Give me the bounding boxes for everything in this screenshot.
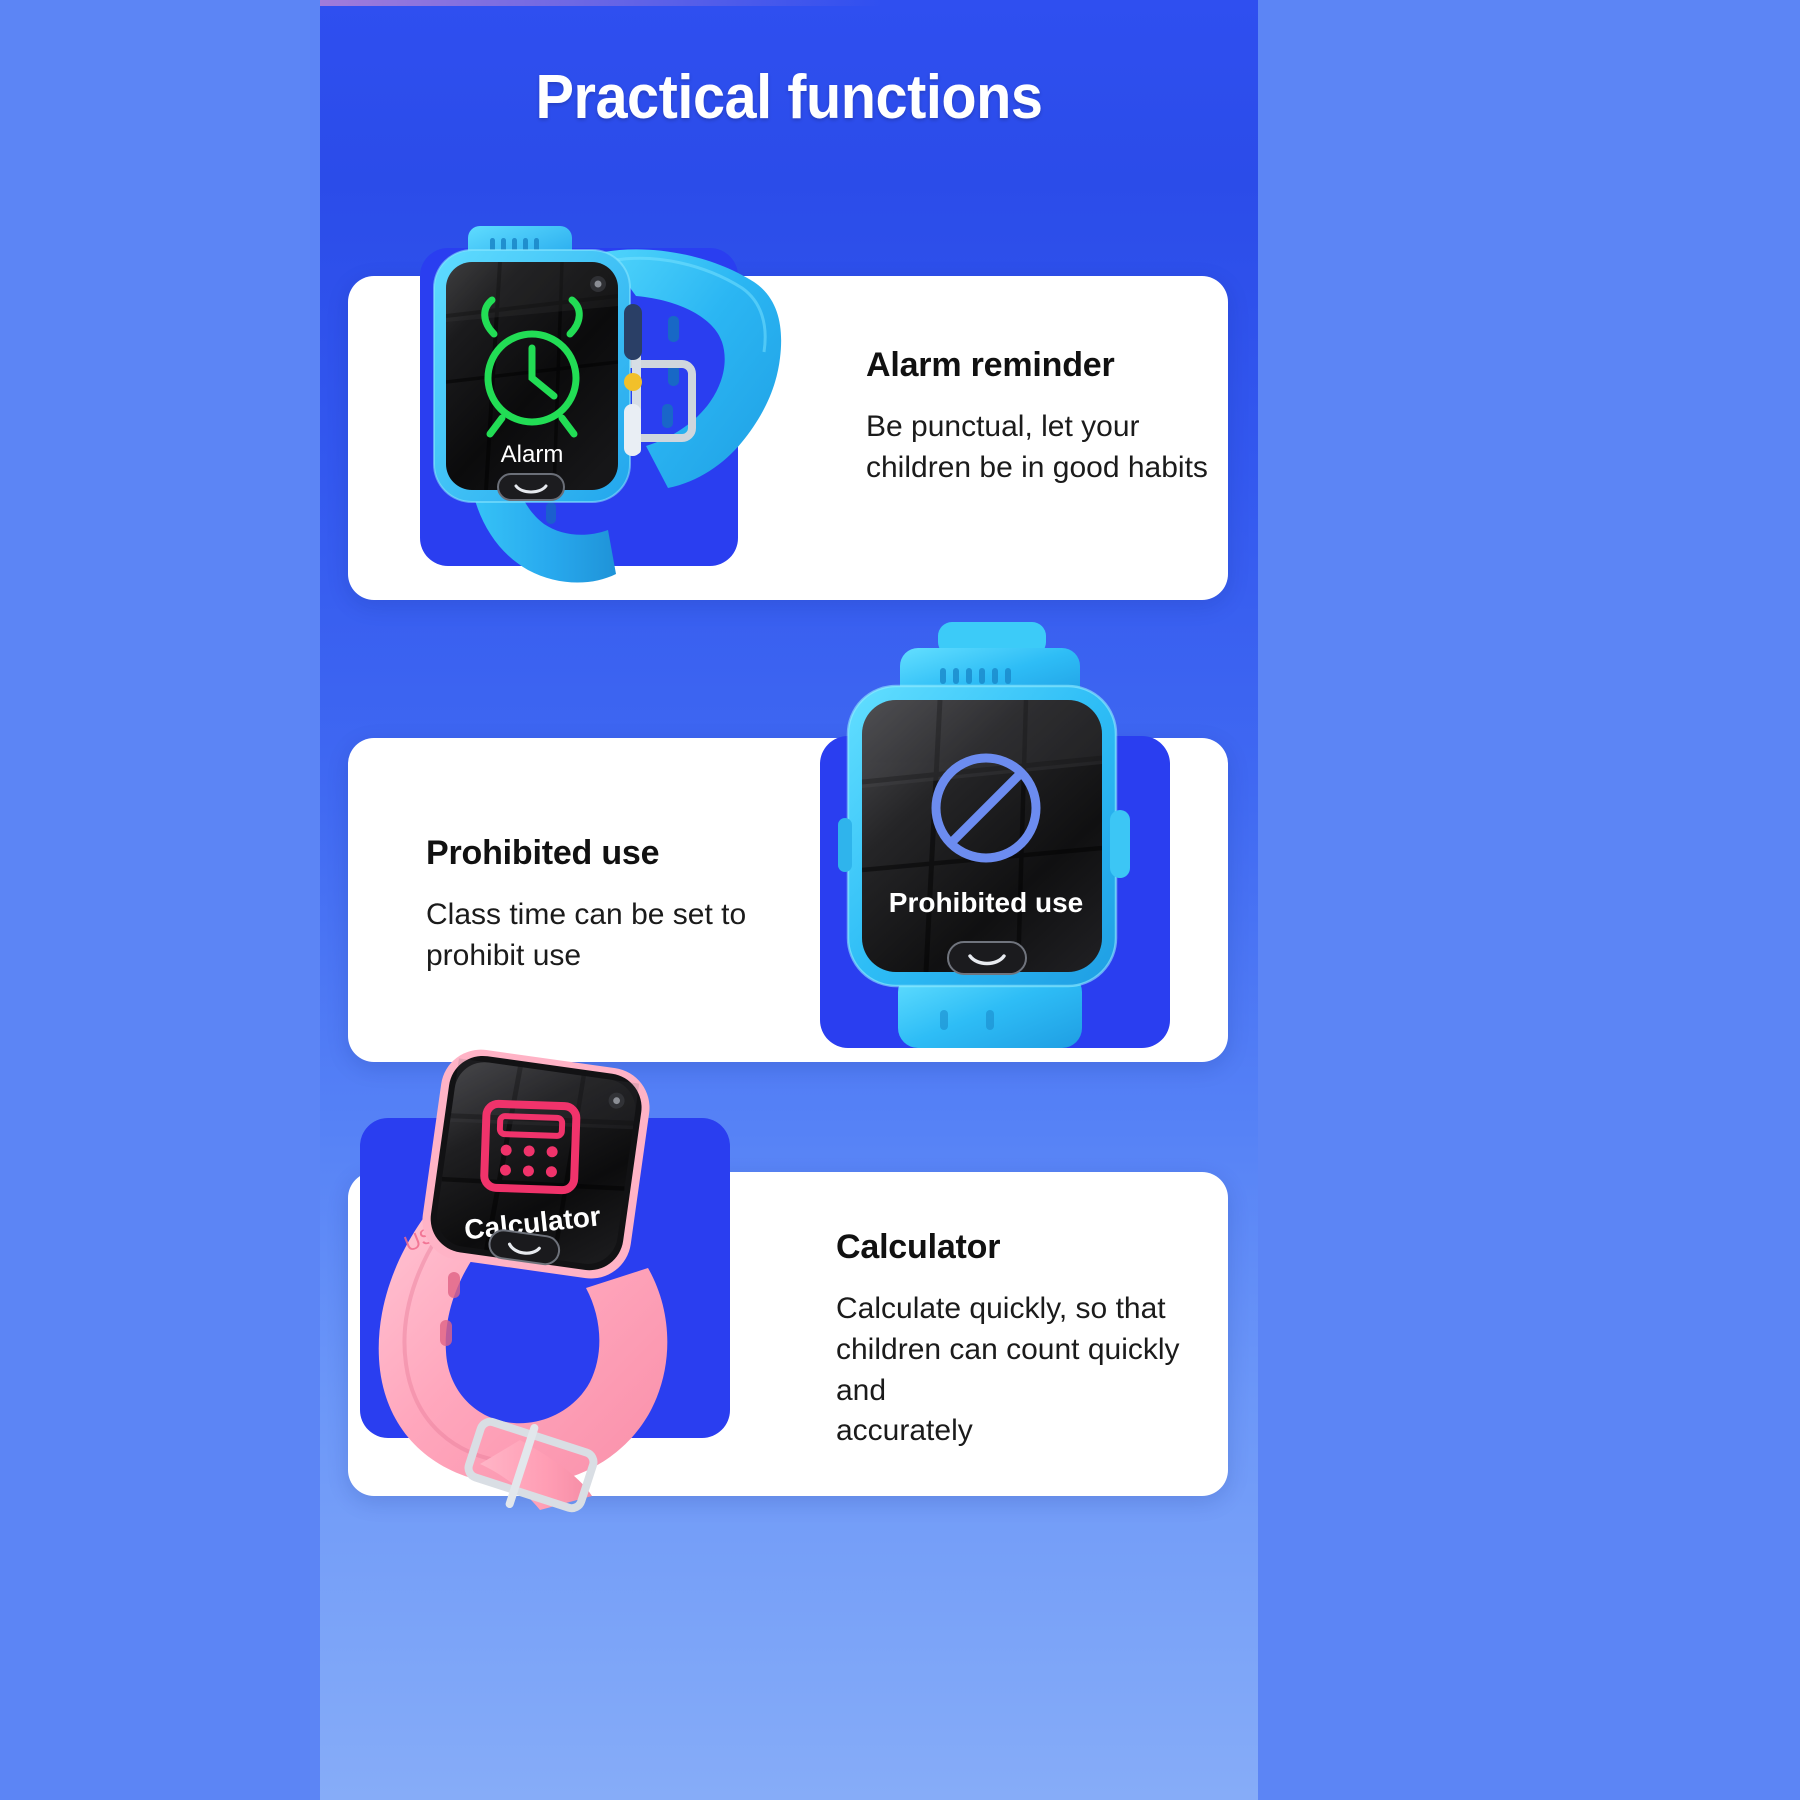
card-text-alarm: Alarm reminder Be punctual, let your chi… (866, 346, 1216, 489)
card-desc-line: children can count quickly and (836, 1330, 1196, 1412)
card-desc-prohibited: Class time can be set to prohibit use (426, 895, 776, 977)
watch-alarm-illustration: Alarm (350, 196, 790, 616)
card-text-calculator: Calculator Calculate quickly, so that ch… (836, 1228, 1196, 1452)
card-desc-calculator: Calculate quickly, so that children can … (836, 1289, 1196, 1452)
watch-calculator: USB (330, 1036, 780, 1516)
card-desc-line: Be punctual, let your (866, 407, 1216, 448)
content-panel: Practical functions Alarm reminder Be pu… (320, 0, 1258, 1800)
infographic-page: Practical functions Alarm reminder Be pu… (0, 0, 1800, 1800)
watch-screen-label-alarm: Alarm (501, 441, 564, 468)
watch-side-button-2[interactable] (624, 404, 641, 456)
card-desc-line: children be in good habits (866, 448, 1216, 489)
watch-screen-label-prohibited: Prohibited use (889, 887, 1083, 918)
page-title: Practical functions (353, 62, 1225, 133)
card-desc-alarm: Be punctual, let your children be in goo… (866, 407, 1216, 489)
watch-side-button[interactable] (1110, 810, 1130, 878)
watch-alarm: Alarm (350, 196, 790, 616)
watch-side-button[interactable] (624, 304, 642, 360)
watch-sos-button[interactable] (624, 373, 642, 391)
card-desc-line: Calculate quickly, so that (836, 1289, 1196, 1330)
watch-prohibited-illustration: Prohibited use (790, 612, 1190, 1072)
watch-side-button-left[interactable] (838, 818, 852, 872)
watch-screen-alarm[interactable]: Alarm (446, 262, 618, 490)
card-text-prohibited: Prohibited use Class time can be set to … (426, 834, 776, 977)
letterbox-left (0, 0, 320, 1800)
watch-prohibited: Prohibited use (790, 612, 1190, 1072)
panel-top-tint (320, 0, 1258, 6)
card-title-calculator: Calculator (836, 1228, 1196, 1267)
card-desc-line: accurately (836, 1411, 1196, 1452)
card-title-prohibited: Prohibited use (426, 834, 776, 873)
card-desc-line: prohibit use (426, 936, 776, 977)
watch-call-button[interactable] (498, 474, 564, 500)
watch-call-button[interactable] (948, 942, 1026, 974)
card-title-alarm: Alarm reminder (866, 346, 1216, 385)
letterbox-right (1258, 0, 1800, 1800)
card-desc-line: Class time can be set to (426, 895, 776, 936)
watch-screen-prohibited[interactable]: Prohibited use (862, 700, 1102, 972)
watch-calculator-illustration: USB (330, 1036, 780, 1516)
